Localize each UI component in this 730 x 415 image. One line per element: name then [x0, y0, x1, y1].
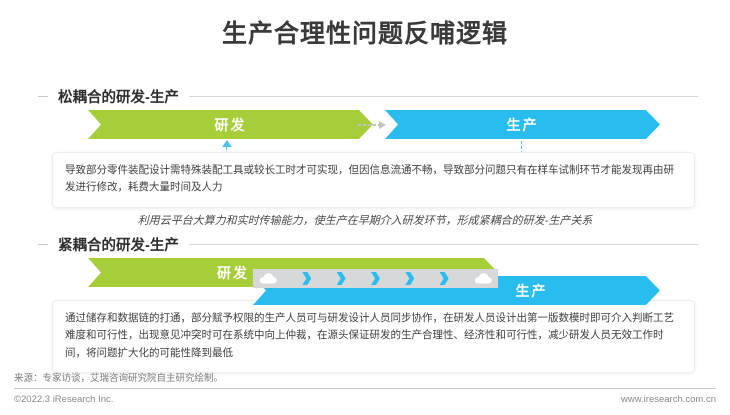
cloud-icon	[259, 273, 277, 284]
copyright-text: ©2022.3 iResearch Inc.	[14, 394, 113, 405]
slide-root: 生产合理性问题反哺逻辑 松耦合的研发-生产 研发 生产 导致部分零件装配设计需特…	[0, 0, 730, 415]
arrow-up-icon	[222, 140, 232, 147]
description-card-tight-coupling: 通过储存和数据链的打通，部分赋予权限的生产人员可与研发设计人员同步协作，在研发人…	[52, 300, 695, 373]
description-card-loose-coupling: 导致部分零件装配设计需特殊装配工具或较长工时才可实现，但因信息流通不畅，导致部分…	[52, 152, 695, 208]
dotted-arrow-icon	[358, 121, 386, 128]
section-heading-tight-coupling: 紧耦合的研发-生产	[38, 234, 698, 255]
section-rule-left	[38, 96, 48, 97]
chevron-right-icon	[371, 272, 380, 285]
footer-divider	[14, 388, 716, 389]
website-link[interactable]: www.iresearch.com.cn	[621, 394, 716, 405]
chevron-right-icon	[302, 272, 311, 285]
collaboration-overlap-band	[253, 269, 498, 288]
chevron-right-icon	[337, 272, 346, 285]
section-rule-left	[38, 244, 48, 245]
stage-arrow-production-loose: 生产	[385, 110, 660, 139]
page-title: 生产合理性问题反哺逻辑	[0, 14, 730, 50]
cloud-icon	[474, 273, 492, 284]
transition-note: 利用云平台大算力和实时传输能力，使生产在早期介入研发环节，形成紧耦合的研发-生产…	[0, 212, 730, 228]
stage-arrow-rd-loose: 研发	[88, 110, 373, 139]
section-title-text: 松耦合的研发-生产	[58, 86, 179, 107]
source-note: 来源：专家访谈，艾瑞咨询研究院自主研究绘制。	[14, 370, 223, 384]
section-rule-right	[189, 96, 698, 97]
chevron-right-icon	[440, 272, 449, 285]
section-rule-right	[189, 244, 698, 245]
section-heading-loose-coupling: 松耦合的研发-生产	[38, 86, 698, 107]
chevron-right-icon	[405, 272, 414, 285]
stage-arrow-label: 生产	[507, 115, 539, 135]
stage-arrow-label: 研发	[215, 115, 247, 135]
section-title-text: 紧耦合的研发-生产	[58, 234, 179, 255]
